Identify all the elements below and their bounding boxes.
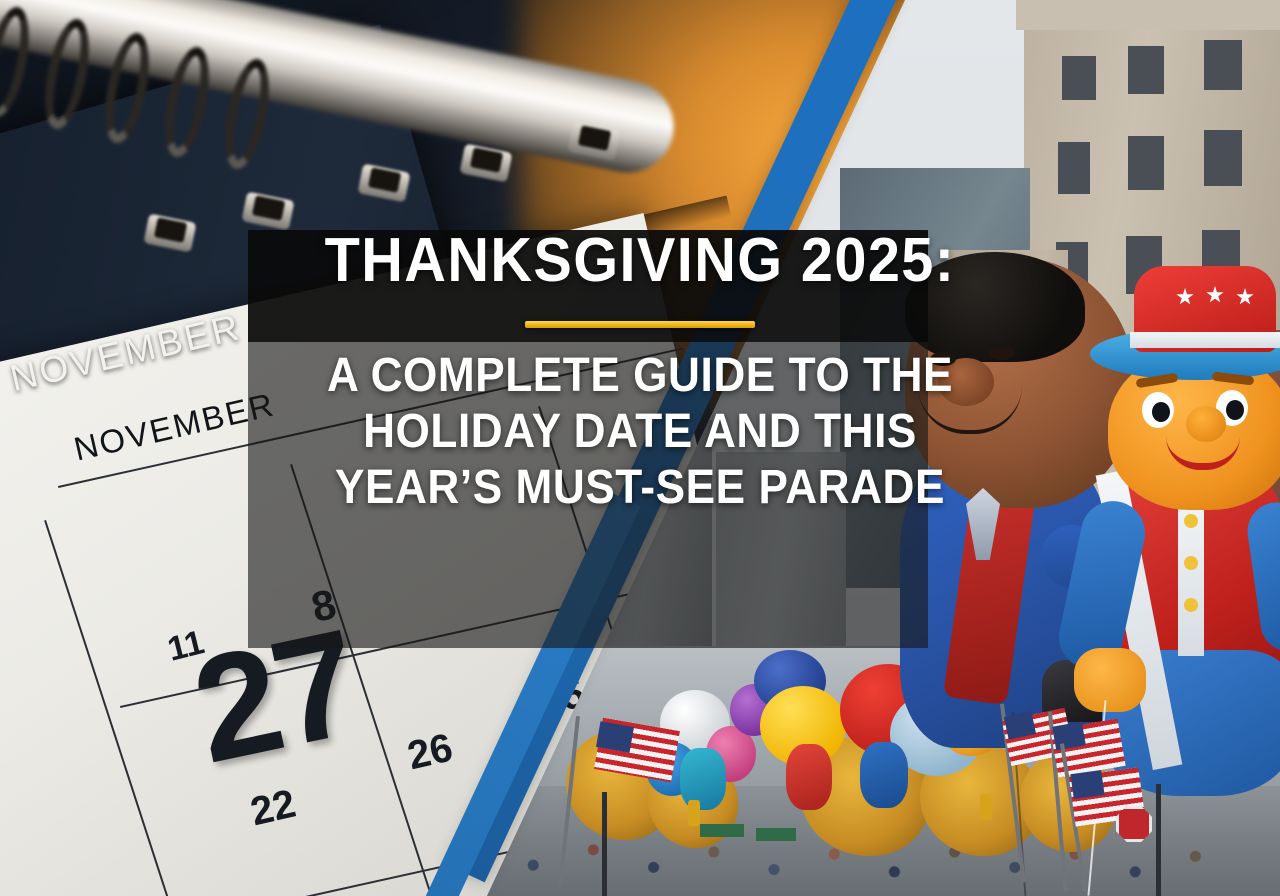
american-flag-canton	[1052, 722, 1086, 751]
subtitle-line-1: A COMPLETE GUIDE TO THE	[51, 348, 1229, 404]
street-lamp	[1156, 784, 1161, 896]
building-window	[1204, 130, 1242, 186]
soldier-balloon-button	[1184, 598, 1198, 612]
building-window	[1062, 56, 1096, 100]
american-flag-canton	[596, 721, 634, 753]
poster-root: NOVEMBER NOVEMBER 11 8 27 22 26 25	[0, 0, 1280, 896]
accent-divider-rule	[525, 321, 755, 328]
balloon-teal-body	[680, 748, 726, 810]
balloon-blue-body	[860, 742, 908, 808]
building-window	[1128, 46, 1164, 94]
page-title: THANKSGIVING 2025:	[45, 225, 1235, 297]
building-window	[1058, 142, 1090, 194]
traffic-light	[688, 800, 700, 826]
building-cornice	[1016, 0, 1280, 30]
headline-block: THANKSGIVING 2025: A COMPLETE GUIDE TO T…	[0, 225, 1280, 516]
traffic-light	[980, 794, 992, 820]
soldier-balloon-hand-left	[1074, 648, 1146, 712]
soldier-balloon-button	[1184, 556, 1198, 570]
subtitle-line-3: YEAR’S MUST-SEE PARADE	[51, 460, 1229, 516]
street-sign	[756, 828, 796, 841]
balloon-red-body	[786, 744, 832, 810]
stop-sign-icon	[1116, 806, 1152, 842]
building-window	[1204, 40, 1242, 90]
american-flag-canton	[1070, 770, 1104, 799]
street-lamp	[602, 792, 607, 896]
street-sign	[700, 824, 744, 837]
soldier-balloon-button	[1184, 514, 1198, 528]
building-window	[1128, 136, 1164, 190]
subtitle-line-2: HOLIDAY DATE AND THIS	[51, 404, 1229, 460]
